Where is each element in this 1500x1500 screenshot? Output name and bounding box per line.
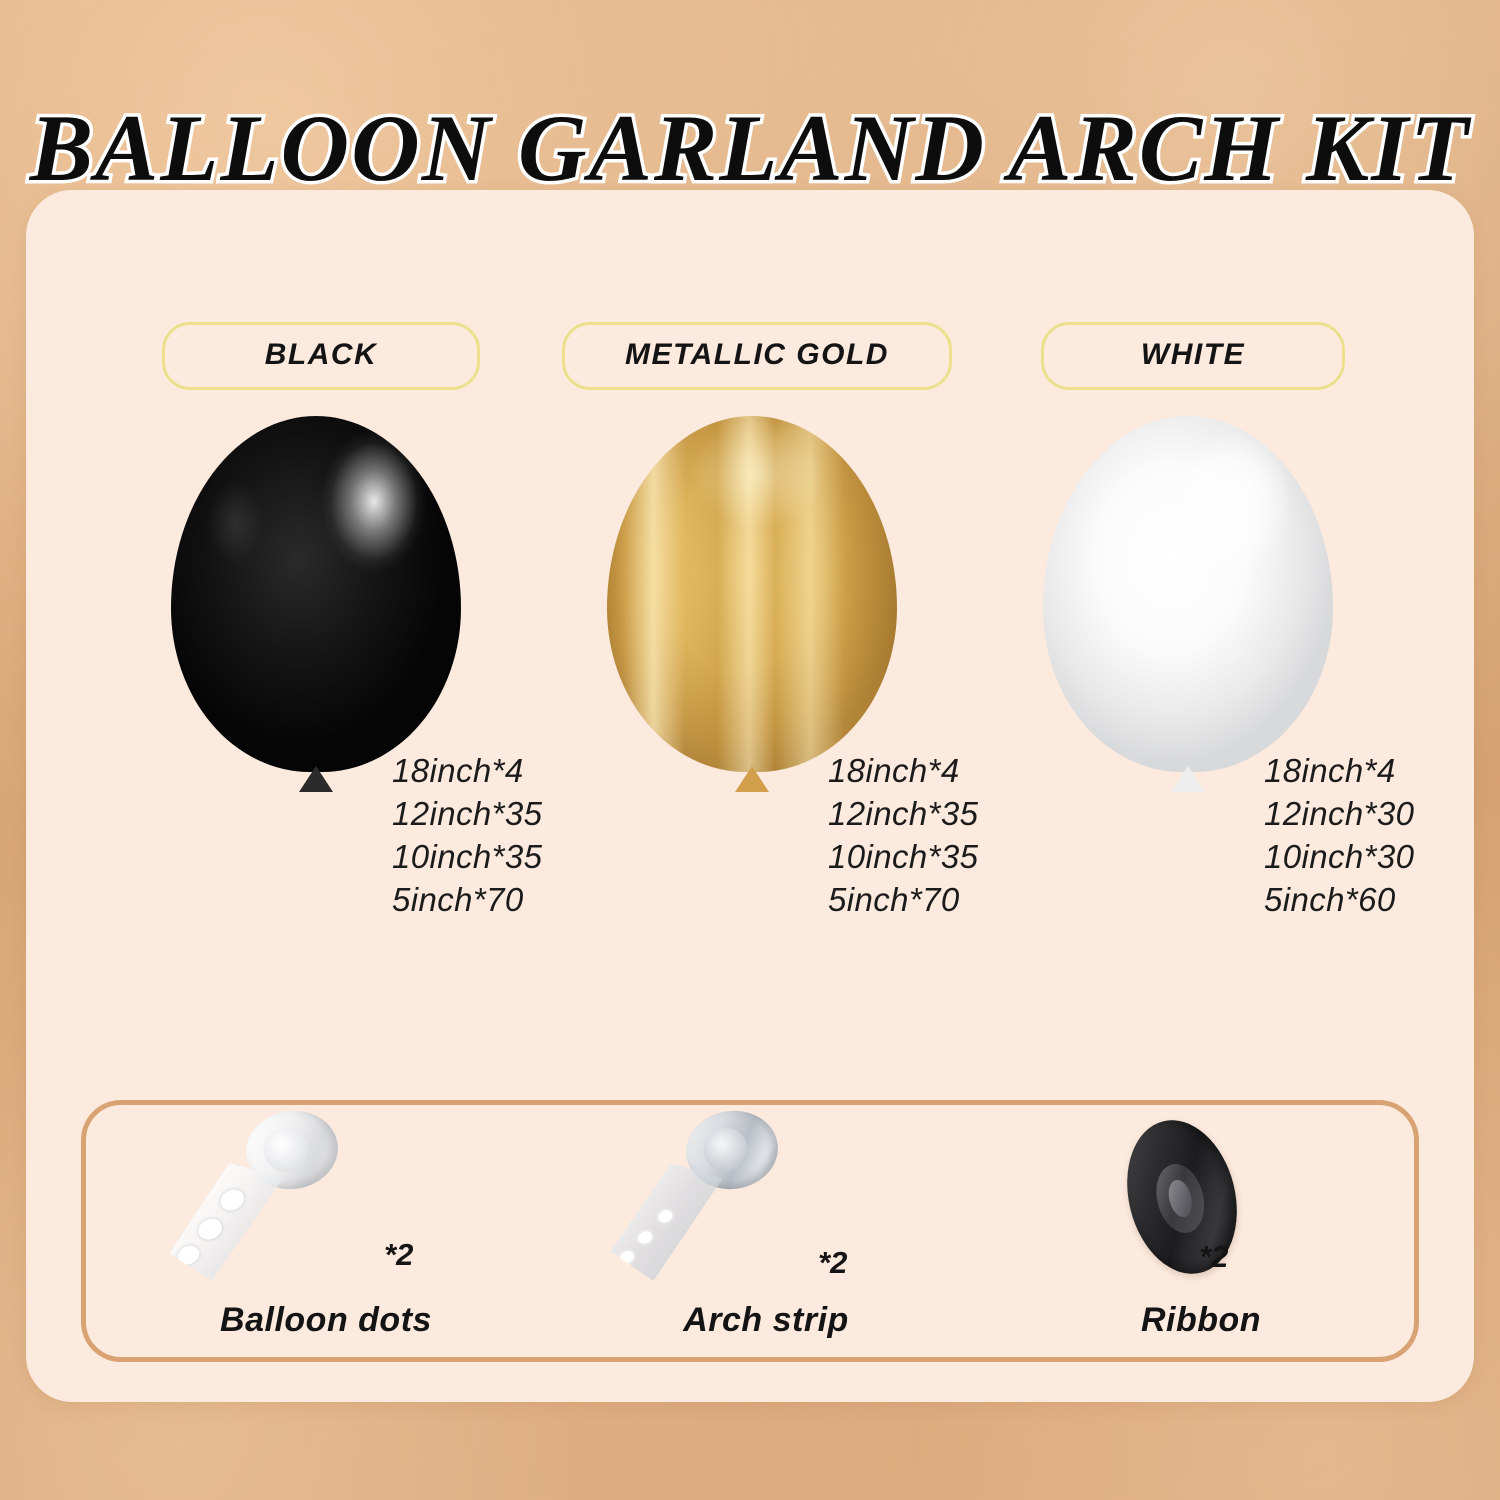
size-list-metallic-gold: 18inch*4 12inch*35 10inch*35 5inch*70 [828,750,978,922]
roll-core [701,1125,751,1175]
size-line: 12inch*35 [392,793,542,836]
size-line: 5inch*60 [1264,879,1414,922]
accessory-ribbon: *2 Ribbon [991,1105,1411,1357]
color-badge-label: WHITE [1078,338,1308,372]
white-balloon-icon [1043,416,1333,772]
content-card: BLACK 18inch*4 12inch*35 10inch*35 5inch… [26,190,1474,1402]
color-badge-label: BLACK [199,338,443,372]
accessory-qty: *2 [818,1245,847,1281]
strip-hole [656,1209,675,1224]
size-line: 18inch*4 [392,750,542,793]
size-line: 10inch*35 [828,836,978,879]
color-badge-metallic-gold: METALLIC GOLD [562,322,952,390]
black-balloon-icon [171,416,461,772]
accessory-qty: *2 [1199,1239,1228,1275]
accessories-panel: *2 Balloon dots *2 Arch strip [81,1100,1419,1362]
page-title: BALLOON GARLAND ARCH KIT [0,98,1500,199]
size-line: 5inch*70 [392,879,542,922]
accessory-label: Balloon dots [116,1301,536,1340]
spool-body [1112,1108,1253,1285]
size-line: 18inch*4 [1264,750,1414,793]
adhesive-dot [216,1187,248,1213]
size-list-white: 18inch*4 12inch*30 10inch*30 5inch*60 [1264,750,1414,922]
size-line: 12inch*30 [1264,793,1414,836]
color-badge-label: METALLIC GOLD [599,338,915,372]
size-line: 10inch*35 [392,836,542,879]
accessory-qty: *2 [384,1237,413,1273]
strip-hole [636,1230,655,1245]
balloon-color-columns: BLACK 18inch*4 12inch*35 10inch*35 5inch… [26,190,1474,1070]
size-line: 10inch*30 [1264,836,1414,879]
accessory-label: Ribbon [991,1301,1411,1340]
accessory-label: Arch strip [556,1301,976,1340]
tape-strip [163,1160,283,1285]
size-line: 18inch*4 [828,750,978,793]
color-badge-white: WHITE [1041,322,1345,390]
accessory-arch-strip: *2 Arch strip [556,1105,976,1357]
roll-core [261,1125,311,1175]
color-column-white: WHITE 18inch*4 12inch*30 10inch*30 5inch… [958,190,1428,1070]
color-badge-black: BLACK [162,322,480,390]
adhesive-dot [174,1243,203,1267]
size-line: 12inch*35 [828,793,978,836]
strip-hole [618,1250,637,1265]
color-column-black: BLACK 18inch*4 12inch*35 10inch*35 5inch… [86,190,556,1070]
product-infographic-poster: BALLOON GARLAND ARCH KIT BLACK 18inch*4 … [0,0,1500,1500]
color-column-metallic-gold: METALLIC GOLD 18inch*4 12inch*35 10inch*… [522,190,992,1070]
size-line: 5inch*70 [828,879,978,922]
adhesive-dot [194,1216,226,1242]
size-list-black: 18inch*4 12inch*35 10inch*35 5inch*70 [392,750,542,922]
arch-strip-roll-icon [652,1111,832,1286]
strip-tail [603,1160,723,1285]
tape-roll-icon [212,1111,392,1286]
metallic-gold-balloon-icon [607,416,897,772]
ribbon-spool-icon [1087,1111,1267,1286]
accessory-balloon-dots: *2 Balloon dots [116,1105,536,1357]
